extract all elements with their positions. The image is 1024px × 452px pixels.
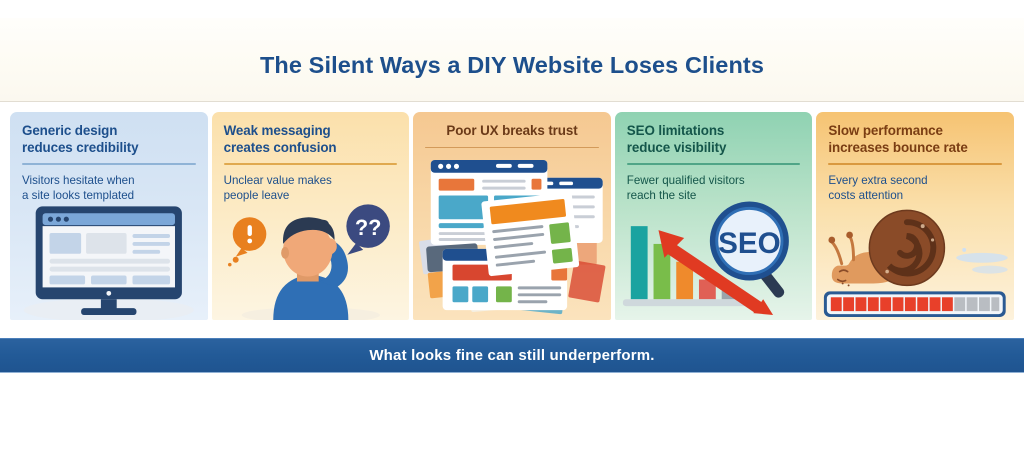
double-question-bubble-icon: ?? bbox=[346, 204, 389, 254]
bottom-banner: What looks fine can still underperform. bbox=[0, 338, 1024, 373]
infographic-canvas: The Silent Ways a DIY Website Loses Clie… bbox=[0, 0, 1024, 452]
panel-body-weak-messaging: Unclear value makes people leave bbox=[224, 173, 398, 204]
panel-generic-design[interactable]: Generic design reduces credibility Visit… bbox=[10, 112, 208, 320]
panel-seo-limitations[interactable]: SEO limitations reduce visibility Fewer … bbox=[615, 112, 813, 320]
panel-body-line1: Unclear value makes bbox=[224, 173, 398, 189]
panel-rule bbox=[828, 163, 1002, 165]
panel-heading-line2: increases bounce rate bbox=[828, 140, 1002, 157]
panel-weak-messaging[interactable]: Weak messaging creates confusion Unclear… bbox=[212, 112, 410, 320]
confused-person-icon: ?? ? bbox=[212, 195, 410, 320]
svg-text:??: ?? bbox=[354, 215, 381, 240]
panel-rule bbox=[22, 163, 196, 165]
panel-heading-line2: reduces credibility bbox=[22, 140, 196, 157]
panel-body-line2: costs attention bbox=[828, 188, 1002, 204]
panel-heading-poor-ux: Poor UX breaks trust bbox=[425, 123, 599, 140]
panel-body-line1: Visitors hesitate when bbox=[22, 173, 196, 189]
panel-body-slow-performance: Every extra second costs attention bbox=[828, 173, 1002, 204]
panel-rule bbox=[627, 163, 801, 165]
panel-heading-line1: SEO limitations bbox=[627, 123, 801, 140]
panel-heading-line1: Weak messaging bbox=[224, 123, 398, 140]
desktop-monitor-wireframe-icon bbox=[10, 195, 208, 320]
panel-poor-ux[interactable]: Poor UX breaks trust bbox=[413, 112, 611, 320]
panel-rule bbox=[425, 147, 599, 149]
panel-body-seo-limitations: Fewer qualified visitors reach the site bbox=[627, 173, 801, 204]
panel-body-line2: reach the site bbox=[627, 188, 801, 204]
panel-heading-slow-performance: Slow performance increases bounce rate bbox=[828, 123, 1002, 156]
page-title: The Silent Ways a DIY Website Loses Clie… bbox=[0, 52, 1024, 79]
panel-heading-seo-limitations: SEO limitations reduce visibility bbox=[627, 123, 801, 156]
panel-body-generic-design: Visitors hesitate when a site looks temp… bbox=[22, 173, 196, 204]
seo-declining-chart-icon: SEO bbox=[615, 195, 813, 320]
bottom-banner-text: What looks fine can still underperform. bbox=[369, 347, 654, 364]
snail-loading-bar-icon bbox=[816, 195, 1014, 320]
panel-heading-line1: Generic design bbox=[22, 123, 196, 140]
panel-rule bbox=[224, 163, 398, 165]
panel-body-line1: Every extra second bbox=[828, 173, 1002, 189]
panel-heading-weak-messaging: Weak messaging creates confusion bbox=[224, 123, 398, 156]
exclaim-bubble-icon bbox=[228, 217, 266, 266]
loading-bar bbox=[824, 291, 1006, 317]
panel-heading-generic-design: Generic design reduces credibility bbox=[22, 123, 196, 156]
panel-body-line2: people leave bbox=[224, 188, 398, 204]
panel-heading-line1: Slow performance bbox=[828, 123, 1002, 140]
panel-heading-line1: Poor UX breaks trust bbox=[425, 123, 599, 140]
panel-strip: Generic design reduces credibility Visit… bbox=[10, 112, 1014, 320]
panel-slow-performance[interactable]: Slow performance increases bounce rate E… bbox=[816, 112, 1014, 320]
magnifier-seo-icon: SEO bbox=[710, 201, 789, 280]
panel-body-line2: a site looks templated bbox=[22, 188, 196, 204]
svg-text:SEO: SEO bbox=[718, 227, 781, 260]
panel-heading-line2: reduce visibility bbox=[627, 140, 801, 157]
panel-body-line1: Fewer qualified visitors bbox=[627, 173, 801, 189]
cluttered-browser-windows-icon bbox=[413, 152, 611, 320]
panel-heading-line2: creates confusion bbox=[224, 140, 398, 157]
